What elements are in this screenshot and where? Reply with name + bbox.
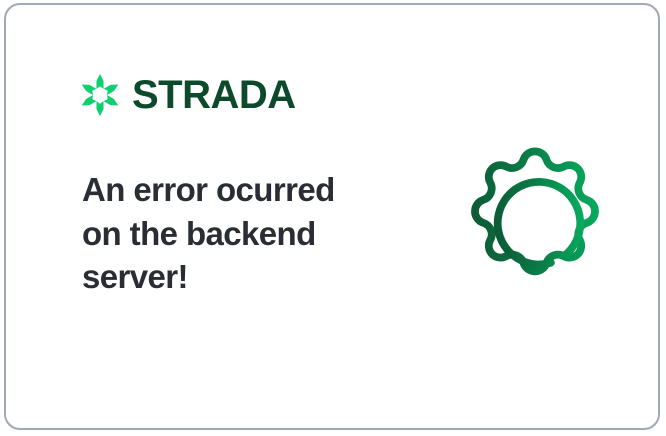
brand-lockup: STRADA xyxy=(78,73,296,117)
error-message-line-1: An error ocurred xyxy=(82,168,382,212)
strada-asterisk-mark-icon xyxy=(78,73,122,117)
error-message-line-2: on the backend xyxy=(82,212,382,256)
error-card: STRADA An error ocurred on the backend s… xyxy=(4,3,660,430)
gear-spinner-icon xyxy=(449,141,621,313)
brand-wordmark: STRADA xyxy=(132,75,296,115)
error-message: An error ocurred on the backend server! xyxy=(82,168,382,299)
error-message-line-3: server! xyxy=(82,255,382,299)
